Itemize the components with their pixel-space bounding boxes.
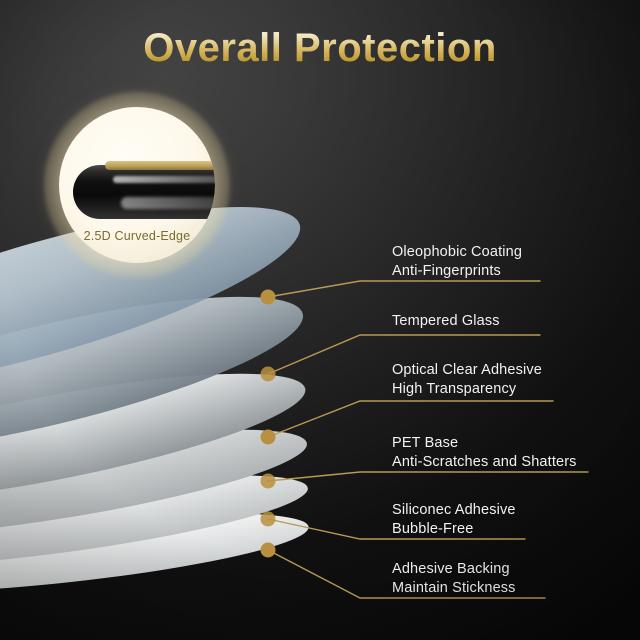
callout-line2: Anti-Fingerprints — [392, 262, 522, 281]
dot-oleophobic-coating — [261, 290, 276, 305]
inset-caption: 2.5D Curved-Edge — [59, 229, 215, 243]
curved-edge-phone-profile-icon — [73, 159, 215, 221]
callout-line1: Adhesive Backing — [392, 561, 510, 577]
callout-siliconec-adhesive: Siliconec Adhesive Bubble-Free — [392, 501, 516, 539]
dot-siliconec-adhesive — [261, 512, 276, 527]
dot-pet-base — [261, 474, 276, 489]
callout-line1: PET Base — [392, 435, 458, 451]
callout-tempered-glass: Tempered Glass — [392, 312, 500, 331]
callout-line1: Optical Clear Adhesive — [392, 362, 542, 378]
dot-adhesive-backing — [261, 543, 276, 558]
callout-adhesive-backing: Adhesive Backing Maintain Stickness — [392, 560, 516, 598]
callout-line2: Anti-Scratches and Shatters — [392, 453, 577, 472]
callout-oleophobic-coating: Oleophobic Coating Anti-Fingerprints — [392, 243, 522, 281]
callout-line2: High Transparency — [392, 380, 542, 399]
callout-line2: Bubble-Free — [392, 520, 516, 539]
callout-line1: Siliconec Adhesive — [392, 502, 516, 518]
layer-stack-diagram — [0, 0, 640, 640]
dot-tempered-glass — [261, 367, 276, 382]
curved-edge-inset: 2.5D Curved-Edge — [59, 107, 215, 263]
callout-line1: Oleophobic Coating — [392, 244, 522, 260]
callout-line2: Maintain Stickness — [392, 579, 516, 598]
dot-optical-clear-adhesive — [261, 430, 276, 445]
product-infographic: Overall Protection 2.5D Curved-Edge Oleo… — [0, 0, 640, 640]
callout-line1: Tempered Glass — [392, 313, 500, 329]
page-title: Overall Protection — [0, 26, 640, 71]
callout-pet-base: PET Base Anti-Scratches and Shatters — [392, 434, 577, 472]
callout-optical-clear-adhesive: Optical Clear Adhesive High Transparency — [392, 361, 542, 399]
